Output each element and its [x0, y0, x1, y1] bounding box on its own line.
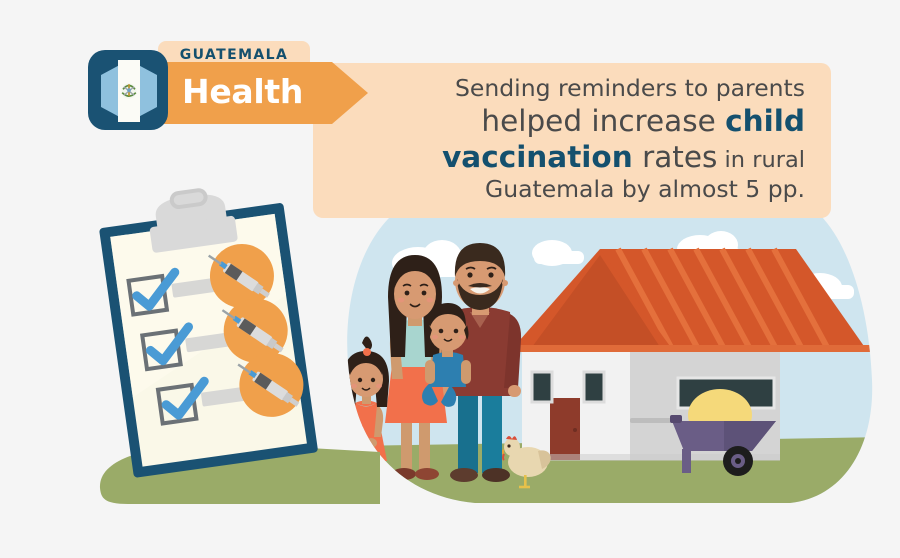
headline-line-1: Sending reminders to parents [375, 74, 805, 103]
headline-text: Sending reminders to parents helped incr… [375, 74, 805, 204]
sector-label: Health [182, 62, 332, 124]
headline-highlight-vaccination: vaccination [442, 140, 633, 174]
headline-highlight-child: child [725, 104, 805, 138]
hair-tie [363, 348, 371, 356]
clipboard-checklist [95, 186, 325, 486]
headline-line-3: vaccination rates in rural [375, 139, 805, 175]
guatemala-emblem [121, 83, 136, 98]
headline-line-3-plain: rates [633, 140, 718, 174]
headline-line-3-small: in rural [717, 147, 805, 173]
clipboard-clip [145, 186, 238, 253]
guatemala-flag-hexagon [98, 58, 160, 124]
window [532, 372, 552, 402]
headline-line-4: Guatemala by almost 5 pp. [375, 175, 805, 204]
headline-line-2: helped increase child [375, 103, 805, 139]
infographic-canvas: Sending reminders to parents helped incr… [0, 0, 900, 558]
headline-line-2-plain: helped increase [481, 104, 725, 138]
window [584, 372, 604, 402]
headline-panel: Sending reminders to parents helped incr… [313, 63, 831, 218]
country-flag-badge [88, 50, 168, 130]
